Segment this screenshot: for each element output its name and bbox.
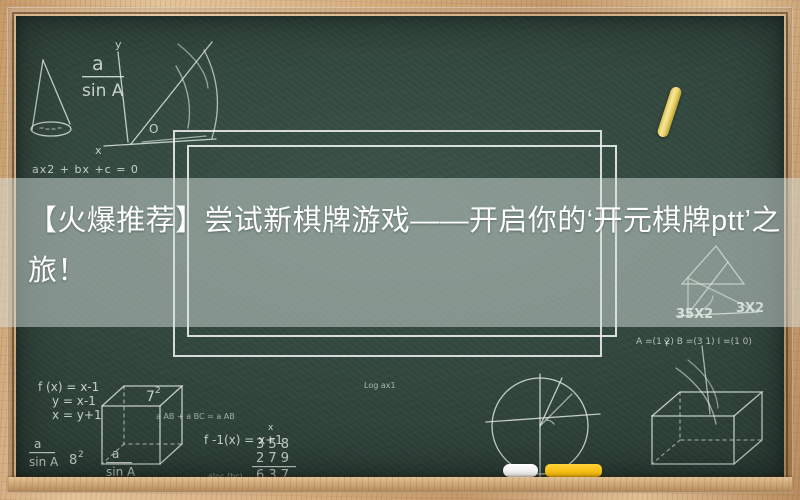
chalk-stick-yellow-icon: [545, 464, 602, 477]
chalk-stick-white-icon: [503, 464, 538, 477]
headline-text: 【火爆推荐】尝试新棋牌游戏——开启你的‘开元棋牌ptt’之旅！: [28, 196, 788, 296]
ledge-grain-texture: [8, 477, 792, 492]
chalk-ledge: [8, 477, 792, 492]
chalkboard-banner: a sin A y x O ax2 + bx +c = 0 35X2 3X2 Y…: [0, 0, 800, 500]
